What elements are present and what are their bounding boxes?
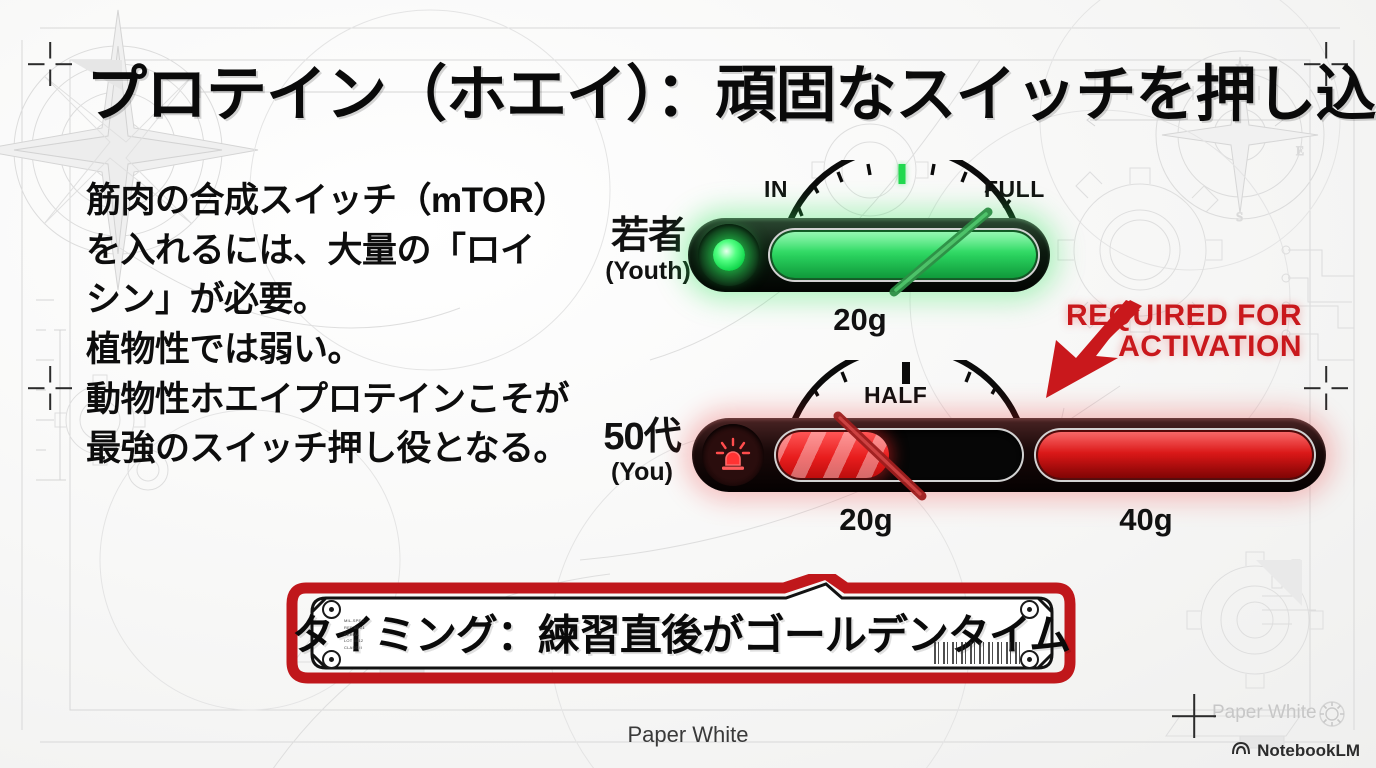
gauge-slot-you-40g [1034, 428, 1316, 482]
watermark-gear-icon [1318, 700, 1346, 728]
body-copy: 筋肉の合成スイッチ（mTOR） を入れるには、大量の「ロイ シン」が必要。 植物… [86, 176, 586, 474]
brand-notebooklm: NotebookLM [1231, 740, 1360, 761]
gauge-label-you-jp: 50代 [592, 418, 692, 456]
screw-bottom-right [1020, 650, 1039, 669]
dial-label-half: HALF [864, 382, 927, 409]
gauge-label-youth-jp: 若者 [596, 217, 700, 255]
gauge-fill-you-40g [1038, 432, 1312, 478]
callout-line-1: REQUIRED FOR [1066, 300, 1302, 331]
registration-mark-top-left [28, 42, 72, 86]
screw-top-right [1020, 600, 1039, 619]
gauge-weight-you-20g: 20g [816, 502, 916, 538]
slide-canvas: W E S [0, 0, 1376, 768]
gauge-weight-youth-20g: 20g [810, 302, 910, 338]
gauge-fill-you-20g [778, 432, 889, 478]
body-line-2: を入れるには、大量の「ロイ [86, 226, 586, 276]
body-line-6: 最強のスイッチ押し役となる。 [86, 424, 586, 474]
gauge-weight-you-40g: 40g [1096, 502, 1196, 538]
svg-text:S: S [1236, 209, 1243, 224]
screw-top-left [322, 600, 341, 619]
dial-label-in: IN [764, 176, 788, 203]
gauge-slot-you-20g [774, 428, 1024, 482]
body-line-3: シン」が必要。 [86, 275, 586, 325]
status-led-green [698, 224, 760, 286]
gauge-housing-you [692, 418, 1326, 492]
banner-microtext: MIL-SPEC REF 08/21 SERIAL LOT 4412 CLASS… [344, 618, 365, 652]
watermark-label: Paper White [1212, 702, 1317, 724]
gauge-label-youth: 若者 (Youth) [596, 217, 700, 284]
body-line-5: 動物性ホエイプロテインこそが [86, 375, 586, 425]
bottom-banner: タイミング：練習直後がゴールデンタイム MIL-SPEC REF 08/21 S… [286, 574, 1076, 690]
gauge-label-you: 50代 (You) [592, 418, 692, 485]
body-line-4: 植物性では弱い。 [86, 325, 586, 375]
gauge-housing-youth [688, 218, 1050, 292]
dial-label-full: FULL [984, 176, 1045, 203]
alarm-siren-icon [702, 424, 764, 486]
gauge-label-youth-en: (Youth) [596, 259, 700, 284]
gauge-label-you-en: (You) [592, 460, 692, 485]
gauge-slot-youth-20g [768, 228, 1040, 282]
registration-mark-right [1304, 366, 1348, 410]
banner-barcode [934, 642, 1020, 664]
footer-label: Paper White [0, 722, 1376, 748]
notebooklm-logo-icon [1231, 740, 1251, 761]
screw-bottom-left [322, 650, 341, 669]
page-title: プロテイン（ホエイ）：頑固なスイッチを押し込め [86, 44, 1376, 133]
body-line-1: 筋肉の合成スイッチ（mTOR） [86, 176, 586, 226]
brand-label: NotebookLM [1257, 741, 1360, 761]
svg-text:E: E [1296, 143, 1304, 158]
callout-required-for-activation: REQUIRED FOR ACTIVATION [1066, 300, 1302, 362]
callout-line-2: ACTIVATION [1066, 331, 1302, 362]
registration-mark-left [28, 366, 72, 410]
gauge-fill-youth-20g [772, 232, 1036, 278]
